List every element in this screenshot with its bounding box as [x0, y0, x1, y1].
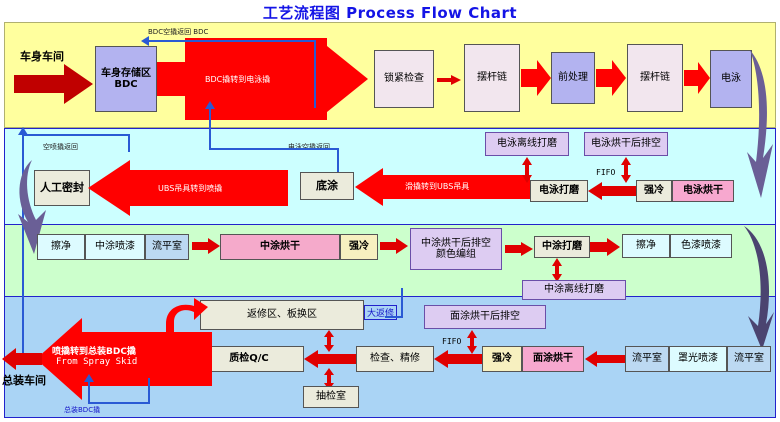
box-quality-check[interactable]: 质检Q/C	[194, 346, 304, 372]
box-clear-coat-spray[interactable]: 罩光喷漆	[669, 346, 727, 372]
box-ed-sanding-label: 电泳打磨	[539, 185, 579, 197]
box-pendulum-chain-2-label: 摆杆链	[640, 72, 670, 84]
arrow-lock-to-pendulum	[437, 70, 461, 80]
row2-ed-return-v	[337, 148, 339, 172]
box-flash-off-primer[interactable]: 流平室	[145, 234, 189, 260]
box-clear-coat-spray-label: 罩光喷漆	[678, 353, 718, 365]
box-topcoat-oven-label: 面涂烘干	[533, 353, 573, 365]
box-ed-forced-cooling[interactable]: 强冷	[636, 180, 672, 202]
label-fifo-row2: FIFO	[596, 168, 615, 177]
label-empty-spray-skid-return: 空喷撬返回	[43, 142, 78, 152]
box-primer-vent-color-group[interactable]: 中涂烘干后排空 颜色编组	[410, 228, 502, 270]
box-repair-panel-area-label: 返修区、板换区	[247, 309, 317, 321]
box-primer-cooling-label: 强冷	[349, 241, 369, 253]
box-primer-spray[interactable]: 中涂喷漆	[85, 234, 145, 260]
box-repair-panel-area[interactable]: 返修区、板换区	[200, 300, 364, 330]
box-topcoat-cooling[interactable]: 强冷	[482, 346, 522, 372]
box-inspection-finishing-label: 检查、精修	[370, 353, 420, 365]
box-inspection-finishing[interactable]: 检查、精修	[356, 346, 434, 372]
box-flash-off-topcoat-1[interactable]: 流平室	[625, 346, 669, 372]
box-color-spray-label: 色漆喷漆	[681, 240, 721, 252]
box-primer-offline-sanding-label: 中涂离线打磨	[544, 284, 604, 296]
box-flash-off-primer-label: 流平室	[152, 241, 182, 253]
box-primer-sanding-label: 中涂打磨	[542, 241, 582, 253]
box-undercoat[interactable]: 底涂	[300, 172, 354, 200]
row2-ed-return-v2	[209, 128, 211, 150]
box-pendulum-chain-1-label: 摆杆链	[477, 72, 507, 84]
return-line-bdc-arrowhead	[141, 36, 149, 46]
row2-return-h1	[22, 134, 130, 136]
box-topcoat-oven-vent-label: 面涂烘干后排空	[450, 311, 520, 323]
big-arrow-skid-label: 滑撬转到UBS吊具	[405, 181, 469, 192]
box-color-spray[interactable]: 色漆喷漆	[670, 234, 732, 258]
label-ed-empty-skid-return: 电泳空撬返回	[288, 142, 330, 152]
return-line-bdc-v	[314, 40, 316, 108]
label-bdc-empty-return: BDC空撬返回 BDC	[148, 27, 208, 37]
process-flow-chart: 工艺流程图 Process Flow Chart 车身车间 车身存储区 BDC …	[0, 0, 780, 422]
box-pendulum-chain-2[interactable]: 摆杆链	[627, 44, 683, 112]
box-sampling-room-label: 抽检室	[316, 391, 346, 403]
skid-return-h	[88, 402, 150, 404]
big-arrow-bdc-label: BDC撬转到电泳撬	[205, 74, 270, 85]
box-primer-offline-sanding[interactable]: 中涂离线打磨	[522, 280, 626, 300]
label-fifo-row4: FIFO	[442, 337, 461, 346]
box-quality-check-label: 质检Q/C	[229, 353, 269, 365]
row2-return-arrowhead	[18, 127, 28, 135]
box-flash-off-topcoat-2[interactable]: 流平室	[727, 346, 771, 372]
box-ed-oven-vent[interactable]: 电泳烘干后排空	[584, 132, 668, 156]
box-ed-oven-vent-label: 电泳烘干后排空	[591, 138, 661, 150]
box-pretreatment[interactable]: 前处理	[551, 52, 595, 104]
label-body-shop: 车身车间	[20, 48, 64, 64]
box-topcoat-oven-vent[interactable]: 面涂烘干后排空	[424, 305, 546, 329]
big-arrow-ubs-label: UBS吊具转到喷撬	[158, 183, 222, 194]
box-primer-vent-color-group-label: 中涂烘干后排空 颜色编组	[421, 238, 491, 261]
label-assembly-shop: 总装车间	[2, 372, 46, 388]
page-title: 工艺流程图 Process Flow Chart	[0, 2, 780, 23]
box-ed-oven-label: 电泳烘干	[683, 185, 723, 197]
feed-line-bdc-arrowhead	[205, 101, 215, 109]
skid-return-v2	[148, 378, 150, 404]
box-ed-offline-sanding-label: 电泳离线打磨	[497, 138, 557, 150]
box-topcoat-oven[interactable]: 面涂烘干	[522, 346, 584, 372]
box-lock-check[interactable]: 锁紧检查	[374, 50, 434, 108]
box-electrodeposition-label: 电泳	[721, 73, 741, 85]
skid-return-v1	[88, 382, 90, 404]
box-pretreatment-label: 前处理	[558, 72, 588, 84]
row2-return-v1	[128, 134, 130, 152]
box-ed-oven[interactable]: 电泳烘干	[672, 180, 734, 202]
box-body-storage[interactable]: 车身存储区 BDC	[95, 46, 157, 112]
box-sampling-room[interactable]: 抽检室	[303, 386, 359, 408]
box-ed-offline-sanding[interactable]: 电泳离线打磨	[485, 132, 569, 156]
box-primer-sanding[interactable]: 中涂打磨	[534, 236, 590, 258]
box-ed-sanding[interactable]: 电泳打磨	[530, 180, 588, 202]
box-pendulum-chain-1[interactable]: 摆杆链	[464, 44, 520, 112]
big-repair-line-v	[401, 288, 403, 318]
box-wipe-clean-2-label: 擦净	[636, 240, 656, 252]
box-flash-off-topcoat-2-label: 流平室	[734, 353, 764, 365]
box-manual-sealing[interactable]: 人工密封	[34, 170, 90, 206]
big-arrow-assembly-label-1: 喷撬转到总装BDC撬	[52, 344, 136, 357]
big-arrow-assembly-label-2: From Spray Skid	[56, 357, 137, 367]
box-ed-forced-cooling-label: 强冷	[644, 185, 664, 197]
box-primer-cooling[interactable]: 强冷	[340, 234, 378, 260]
box-wipe-clean-1[interactable]: 擦净	[37, 234, 85, 260]
box-wipe-clean-2[interactable]: 擦净	[622, 234, 670, 258]
box-electrodeposition[interactable]: 电泳	[710, 50, 752, 108]
box-primer-oven[interactable]: 中涂烘干	[220, 234, 340, 260]
box-flash-off-topcoat-1-label: 流平室	[632, 353, 662, 365]
box-primer-spray-label: 中涂喷漆	[95, 241, 135, 253]
feed-line-bdc-v	[209, 108, 211, 130]
box-topcoat-cooling-label: 强冷	[492, 353, 512, 365]
return-line-bdc-h	[148, 40, 316, 42]
row2-return-v-left	[22, 134, 24, 364]
box-lock-check-label: 锁紧检查	[384, 73, 424, 85]
box-primer-oven-label: 中涂烘干	[260, 241, 300, 253]
row2-ed-return-h	[209, 148, 339, 150]
label-assembly-skid-return: 总装BDC撬	[64, 405, 100, 415]
big-repair-line-h	[385, 316, 403, 318]
box-undercoat-label: 底涂	[316, 180, 338, 193]
box-body-storage-label: 车身存储区 BDC	[101, 68, 151, 91]
skid-return-arrowhead	[84, 374, 94, 382]
box-wipe-clean-1-label: 擦净	[51, 241, 71, 253]
box-manual-sealing-label: 人工密封	[40, 182, 84, 195]
